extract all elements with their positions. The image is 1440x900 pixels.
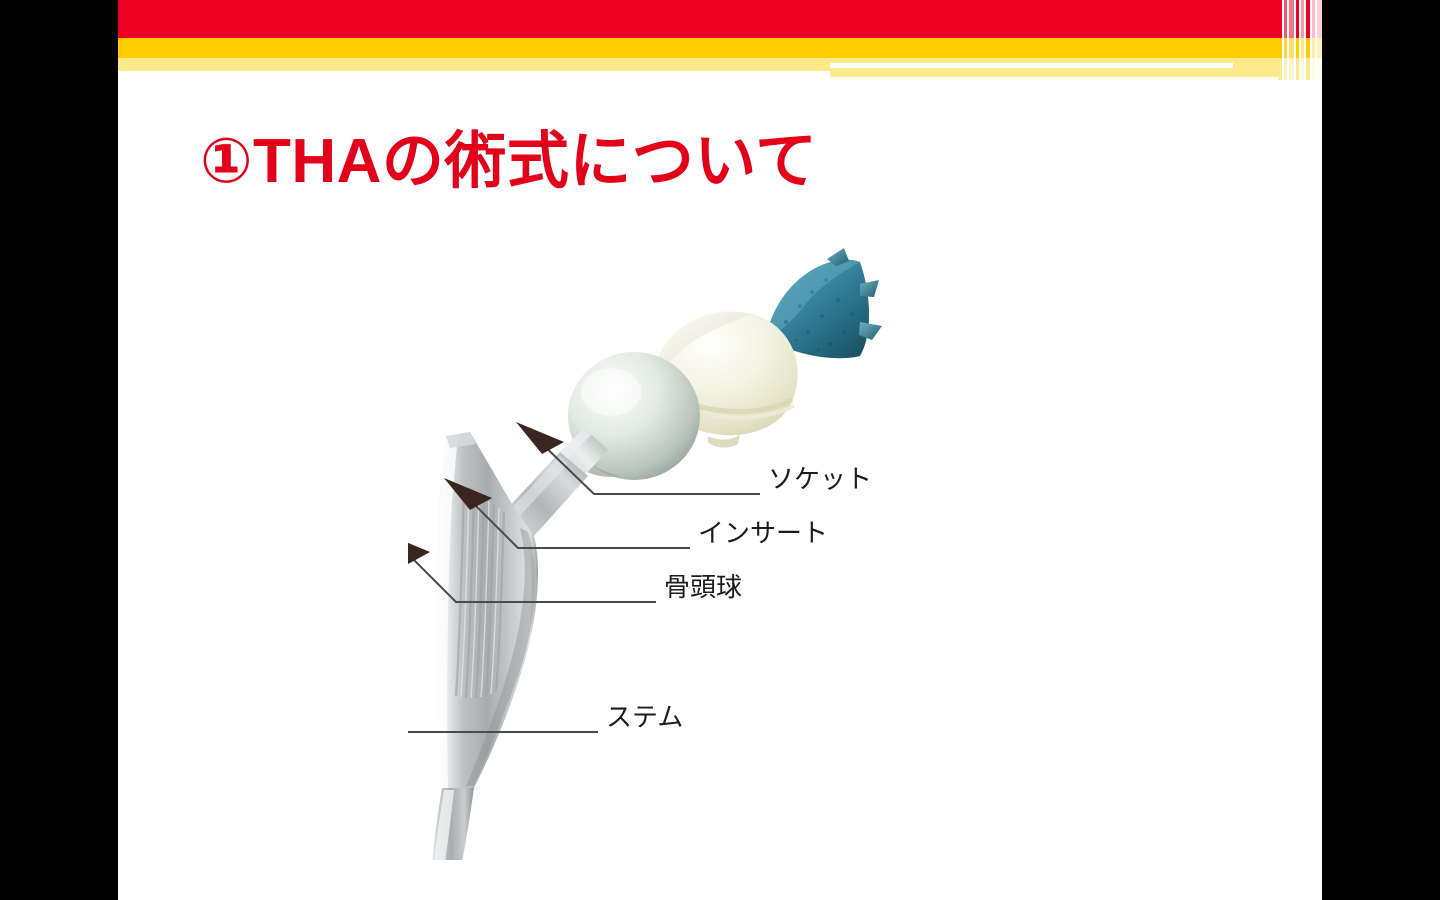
banner-stripe-3: [1289, 0, 1294, 80]
stripe-3-red-segment: [1289, 0, 1294, 38]
arrowhead-socket: [516, 422, 564, 454]
banner-stripe-7: [1312, 0, 1315, 80]
arrowhead-head: [408, 532, 430, 564]
stripe-7-red-segment: [1312, 0, 1315, 38]
banner-accent-stripes: [1278, 0, 1322, 80]
banner-stripe-5: [1301, 0, 1304, 80]
letterbox-bar-right: [1322, 0, 1440, 900]
stripe-4-red-segment: [1296, 0, 1299, 38]
banner-red-band: [118, 0, 1278, 38]
letterbox-bar-left: [0, 0, 118, 900]
banner-stripe-6: [1306, 0, 1310, 80]
stripe-3-gold-segment: [1289, 38, 1294, 58]
stripe-6-pale-segment: [1306, 58, 1310, 80]
banner-pale-band-left: [118, 58, 830, 71]
stripe-5-gold-segment: [1301, 38, 1304, 58]
label-stem: ステム: [606, 703, 683, 733]
header-banner: [118, 0, 1322, 90]
stripe-7-gold-segment: [1312, 38, 1315, 58]
banner-gold-band: [118, 38, 1278, 58]
stripe-3-pale-segment: [1289, 58, 1294, 80]
stripe-5-pale-segment: [1301, 58, 1304, 80]
stripe-7-pale-segment: [1312, 58, 1315, 80]
stripe-5-red-segment: [1301, 0, 1304, 38]
stripe-6-red-segment: [1306, 0, 1310, 38]
stripe-4-gold-segment: [1296, 38, 1299, 58]
stripe-4-pale-segment: [1296, 58, 1299, 80]
banner-stripe-1: [1278, 0, 1282, 80]
stripe-2-pale-segment: [1284, 58, 1287, 80]
stripe-1-red-segment: [1278, 0, 1282, 38]
slide-frame: ①THAの術式について: [0, 0, 1440, 900]
page-title: ①THAの術式について: [200, 126, 818, 197]
label-head: 骨頭球: [664, 573, 742, 603]
stripe-2-red-segment: [1284, 0, 1287, 38]
banner-stripe-2: [1284, 0, 1287, 80]
banner-white-notch: [830, 63, 1233, 68]
stripe-1-pale-segment: [1278, 58, 1282, 80]
label-insert: インサート: [698, 519, 828, 549]
stripe-1-gold-segment: [1278, 38, 1282, 58]
implant-stem: [429, 428, 608, 860]
stripe-6-gold-segment: [1306, 38, 1310, 58]
implant-diagram-svg: ソケット インサート 骨頭球 ステム: [408, 240, 1168, 860]
slide-canvas: ①THAの術式について: [118, 0, 1322, 900]
stripe-2-gold-segment: [1284, 38, 1287, 58]
tha-implant-figure: ソケット インサート 骨頭球 ステム: [408, 240, 1168, 860]
banner-stripe-4: [1296, 0, 1299, 80]
label-socket: ソケット: [768, 465, 872, 495]
